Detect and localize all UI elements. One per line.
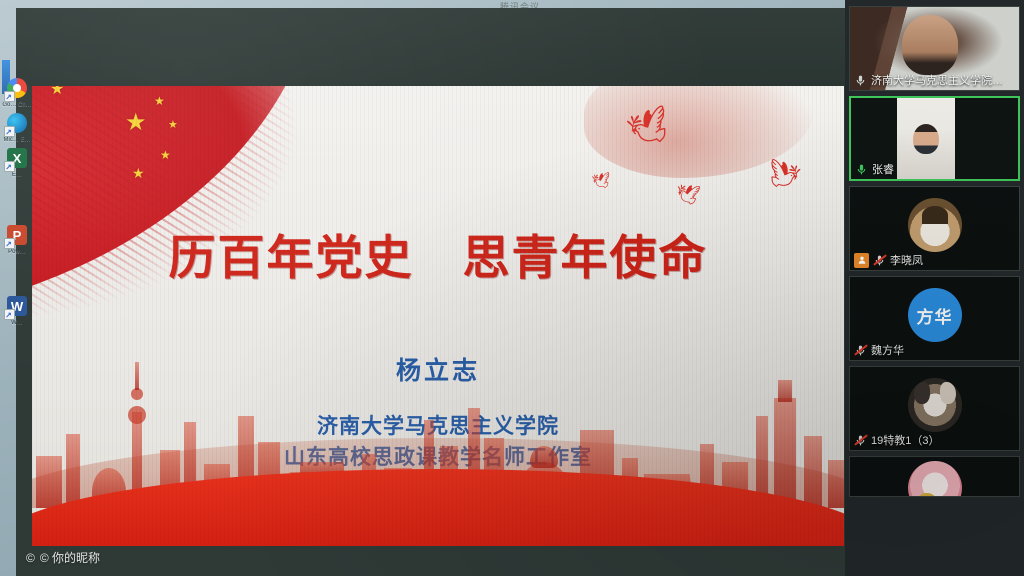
microphone-icon[interactable]: [854, 73, 867, 88]
participant-namebar: 19特教1（3）: [850, 430, 943, 450]
desktop-icon-label: E…: [2, 172, 32, 179]
flag-star-icon: ★: [50, 86, 64, 98]
flag-star-icon: ★: [154, 95, 165, 107]
desktop-icon-microsoft-powerpoint[interactable]: P↗ Pow…: [2, 225, 32, 256]
participant-name: 魏方华: [871, 342, 904, 358]
desktop-icon-column: ↗ Go… Ch… ↗ Mic… E… X↗ E… P↗ Pow… W↗ W…: [0, 78, 34, 548]
participant-rail[interactable]: 济南大学马克思主义学院… 张睿 李晓凤 方华: [845, 0, 1024, 576]
participant-tile-partial[interactable]: [849, 456, 1020, 497]
host-badge-icon: [854, 253, 869, 268]
participant-name: 19特教1（3）: [871, 432, 939, 448]
participant-namebar: 19特教1（3） 魏方华: [850, 340, 908, 360]
participant-name: 李晓凤: [890, 252, 923, 268]
microphone-icon[interactable]: [855, 162, 868, 177]
excel-icon: X↗: [7, 148, 27, 168]
microphone-muted-icon[interactable]: [854, 433, 867, 448]
powerpoint-icon: P↗: [7, 225, 27, 245]
participant-tile-active-speaker[interactable]: 张睿: [849, 96, 1020, 181]
avatar: [908, 198, 962, 252]
participant-tile[interactable]: 方华 19特教1（3） 魏方华: [849, 276, 1020, 361]
avatar: [908, 378, 962, 432]
bird-icon: 🕊: [764, 158, 802, 191]
participant-name: 济南大学马克思主义学院…: [871, 72, 1003, 88]
bird-icon: 🕊: [675, 185, 701, 206]
microphone-muted-icon[interactable]: [854, 343, 867, 358]
participant-name: 张睿: [872, 161, 894, 177]
desktop-icon-microsoft-excel[interactable]: X↗ E…: [2, 148, 32, 179]
flag-star-icon: ★: [125, 111, 147, 135]
avatar-initials: 方华: [908, 288, 962, 342]
desktop-icon-label: Mic… E…: [2, 137, 32, 144]
shared-slide: ★ ★ ★ ★ ★ ★ 🕊 🕊 🕊 🕊 历百年党史 思青年使命 杨立志 济南大学…: [32, 86, 844, 546]
flag-star-icon: ★: [132, 166, 145, 180]
copyright-icon: ©: [26, 551, 35, 565]
edge-icon: ↗: [7, 113, 27, 133]
microphone-muted-icon[interactable]: [873, 253, 886, 268]
watermark-nickname: © 你的昵称: [40, 549, 100, 566]
bird-icon: 🕊: [591, 173, 612, 191]
desktop-icon-google-chrome[interactable]: ↗ Go… Ch…: [2, 78, 32, 109]
participant-namebar: 济南大学马克思主义学院…: [850, 70, 1007, 90]
flag-star-icon: ★: [160, 149, 171, 161]
chrome-icon: ↗: [7, 78, 27, 98]
participant-tile[interactable]: 19特教1（3）: [849, 366, 1020, 451]
participant-namebar: 李晓凤: [850, 250, 927, 270]
participant-tile[interactable]: 济南大学马克思主义学院…: [849, 6, 1020, 91]
desktop-icon-label: Go… Ch…: [2, 102, 32, 109]
participant-namebar: 张睿: [851, 159, 898, 179]
desktop-icon-label: Pow…: [2, 249, 32, 256]
slide-title: 历百年党史 思青年使命: [32, 219, 844, 288]
meeting-watermark: © © 你的昵称: [26, 549, 100, 566]
flag-star-icon: ★: [168, 120, 178, 131]
desktop-icon-microsoft-edge[interactable]: ↗ Mic… E…: [2, 113, 32, 144]
avatar: [908, 461, 962, 497]
desktop-icon-label: W…: [2, 320, 32, 327]
word-icon: W↗: [7, 296, 27, 316]
desktop-icon-microsoft-word[interactable]: W↗ W…: [2, 296, 32, 327]
participant-tile[interactable]: 李晓凤: [849, 186, 1020, 271]
